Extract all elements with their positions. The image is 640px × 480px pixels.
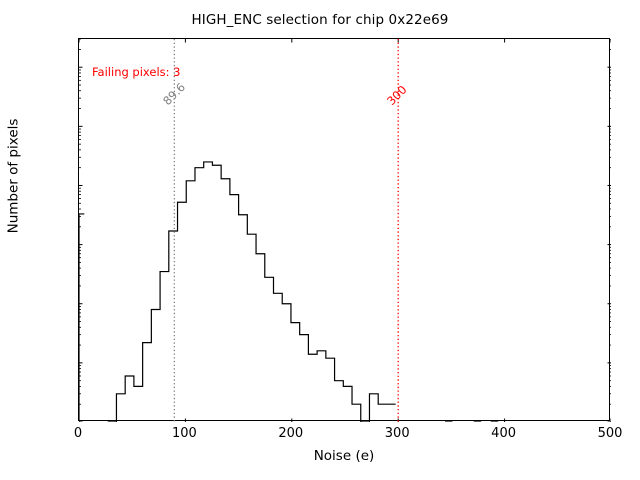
page-title: HIGH_ENC selection for chip 0x22e69 [0,12,640,28]
x-tick-label: 100 [172,426,197,441]
histogram-series [79,162,498,422]
x-tick-label: 400 [491,426,516,441]
x-tick-label: 500 [598,426,623,441]
failing-pixels-text: Failing pixels: 3 [92,65,181,79]
x-axis-label: Noise (e) [78,448,610,464]
axis-ticks [79,39,611,422]
x-tick-label: 200 [278,426,303,441]
x-tick-label: 300 [385,426,410,441]
plot-area [78,38,610,421]
histogram-plot [79,39,611,422]
x-tick-label: 0 [74,426,82,441]
annotation-vlines [174,39,398,422]
figure-canvas: HIGH_ENC selection for chip 0x22e69 Numb… [0,0,640,480]
y-axis-label: Number of pixels [6,0,22,368]
